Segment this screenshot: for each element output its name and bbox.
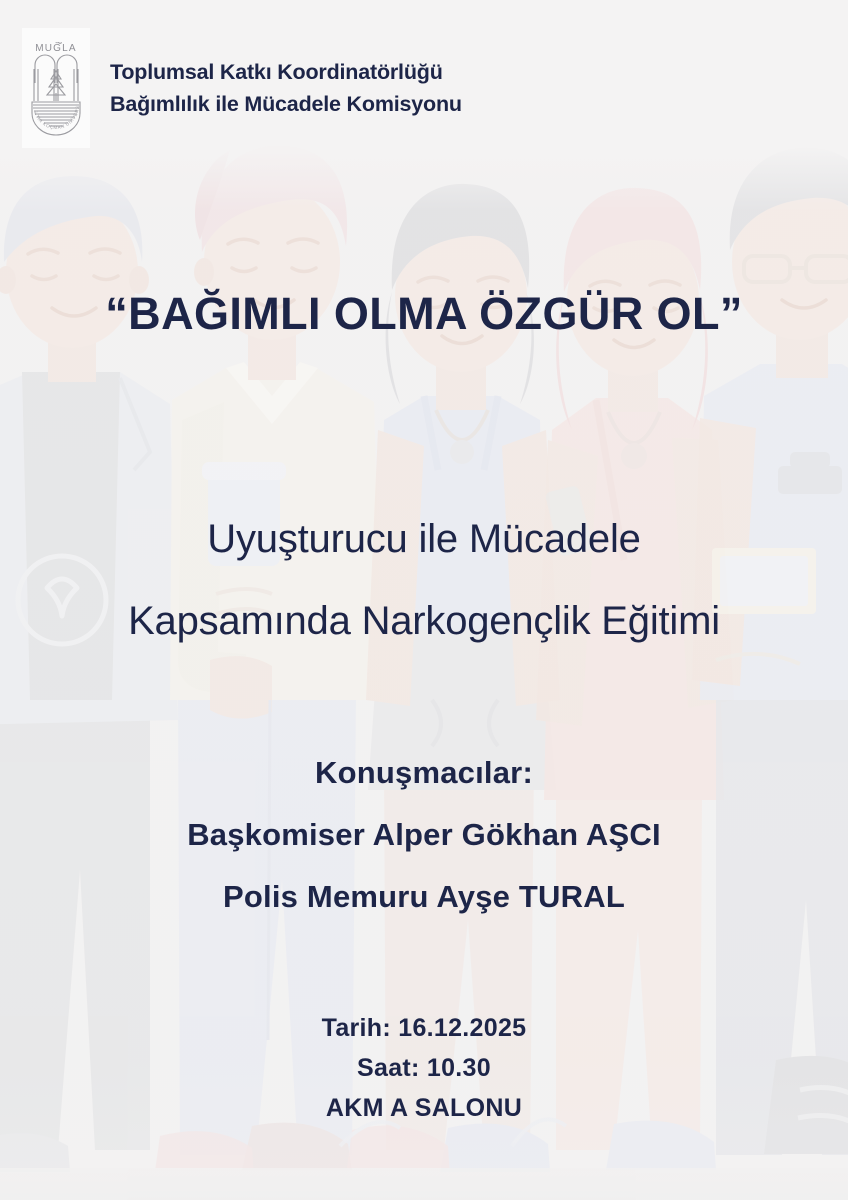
event-details-section: Tarih: 16.12.2025 Saat: 10.30 AKM A SALO… [0,1008,848,1128]
subtitle-line-1: Uyuşturucu ile Mücadele [0,498,848,580]
speaker-name-1: Başkomiser Alper Gökhan AŞCI [0,804,848,866]
speakers-heading: Konuşmacılar: [0,742,848,804]
poster-canvas: MUĞLA [0,0,848,1200]
poster-content: “BAĞIMLI OLMA ÖZGÜR OL” Uyuşturucu ile M… [0,0,848,1200]
speaker-name-2: Polis Memuru Ayşe TURAL [0,866,848,928]
event-time: Saat: 10.30 [0,1048,848,1088]
event-subtitle: Uyuşturucu ile Mücadele Kapsamında Narko… [0,498,848,662]
subtitle-line-2: Kapsamında Narkogençlik Eğitimi [0,580,848,662]
speakers-section: Konuşmacılar: Başkomiser Alper Gökhan AŞ… [0,742,848,928]
page-title: “BAĞIMLI OLMA ÖZGÜR OL” [0,288,848,340]
event-venue: AKM A SALONU [0,1088,848,1128]
event-date: Tarih: 16.12.2025 [0,1008,848,1048]
